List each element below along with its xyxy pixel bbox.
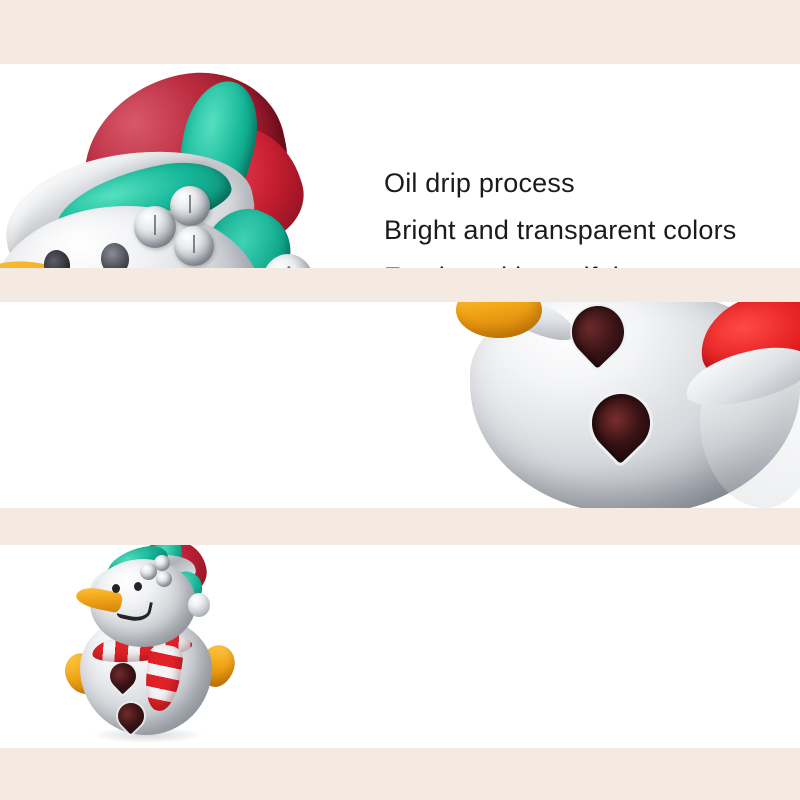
silver-berry-1 (134, 206, 176, 248)
silver-berry-2 (154, 555, 170, 571)
background-band-middle-2 (0, 508, 800, 545)
feature-panel-oil-drip: Oil drip process Bright and transparent … (0, 64, 800, 268)
berry-line (154, 215, 156, 234)
background-band-middle-1 (0, 268, 800, 302)
product-image-full-charm (0, 545, 800, 748)
berry-line (189, 195, 191, 213)
background-band-top (0, 0, 800, 64)
silver-berry-3 (174, 226, 214, 266)
silver-berry-2 (170, 186, 210, 226)
jingle-bell (188, 593, 210, 617)
product-feature-page: Oil drip process Bright and transparent … (0, 0, 800, 800)
snowman-eye-left (112, 584, 120, 593)
feature-panel-silver-material: 925 silver material Comfortable to wear … (0, 302, 800, 508)
berry-line (193, 235, 195, 253)
background-band-bottom (0, 748, 800, 800)
snowman-eye-right (134, 582, 142, 591)
product-image-head-closeup (0, 64, 344, 268)
snowman-charm-figure (62, 545, 272, 748)
feature-line: Fresh and beautiful (384, 254, 737, 268)
feature-text-oil-drip: Oil drip process Bright and transparent … (384, 160, 737, 268)
feature-panel-oxidation: Oxidation process Rich color (0, 545, 800, 748)
feature-line: Bright and transparent colors (384, 207, 737, 254)
product-image-body-macro (0, 302, 800, 508)
silver-berry-3 (156, 571, 172, 587)
feature-line: Oil drip process (384, 160, 737, 207)
